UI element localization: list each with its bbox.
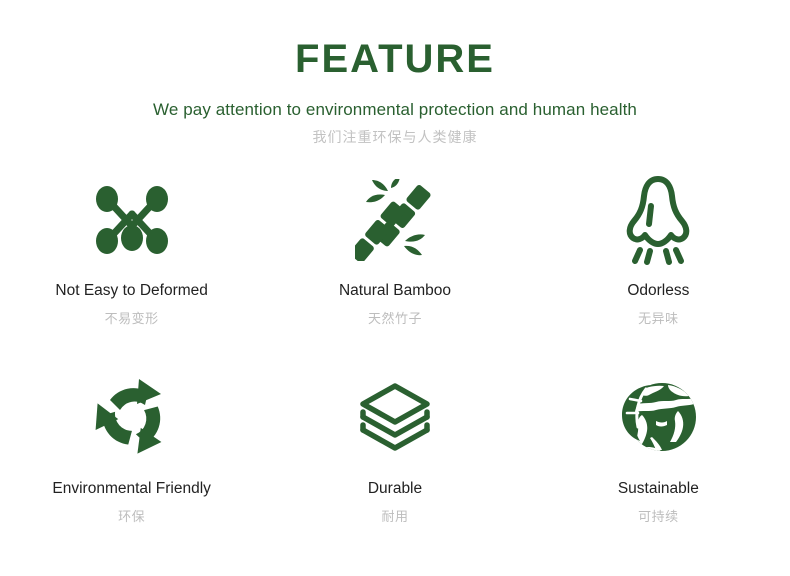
feature-item-odorless: Odorless 无异味 [527, 168, 790, 364]
feature-label-chinese: 无异味 [638, 311, 679, 327]
section-header: FEATURE We pay attention to environmenta… [0, 0, 790, 146]
feature-label-english: Odorless [627, 282, 689, 301]
globe-leaf-icon [616, 368, 700, 466]
feature-item-durable: Durable 耐用 [263, 364, 526, 560]
subtitle-english: We pay attention to environmental protec… [0, 100, 790, 120]
feature-item-sustainable: Sustainable 可持续 [527, 364, 790, 560]
bamboo-stalks-icon [355, 172, 435, 268]
feature-label-chinese: 天然竹子 [368, 311, 422, 327]
feature-item-natural-bamboo: Natural Bamboo 天然竹子 [263, 168, 526, 364]
feature-label-chinese: 可持续 [638, 509, 679, 525]
feature-label-english: Sustainable [618, 480, 699, 499]
subtitle-chinese: 我们注重环保与人类健康 [0, 129, 790, 146]
feature-label-chinese: 环保 [118, 509, 145, 525]
feature-label-english: Not Easy to Deformed [55, 282, 207, 301]
feature-label-english: Durable [368, 480, 422, 499]
nose-smell-icon [622, 172, 694, 268]
molecule-nodes-icon [90, 172, 174, 268]
feature-label-chinese: 耐用 [381, 509, 408, 525]
recycle-arrows-icon [88, 368, 176, 466]
feature-grid: Not Easy to Deformed 不易变形 [0, 168, 790, 560]
feature-label-chinese: 不易变形 [105, 311, 159, 327]
stacked-layers-icon [357, 368, 433, 466]
feature-label-english: Environmental Friendly [52, 480, 211, 499]
page-title: FEATURE [0, 38, 790, 80]
feature-item-environmental-friendly: Environmental Friendly 环保 [0, 364, 263, 560]
feature-item-not-easy-to-deformed: Not Easy to Deformed 不易变形 [0, 168, 263, 364]
feature-label-english: Natural Bamboo [339, 282, 451, 301]
feature-section: FEATURE We pay attention to environmenta… [0, 0, 790, 576]
